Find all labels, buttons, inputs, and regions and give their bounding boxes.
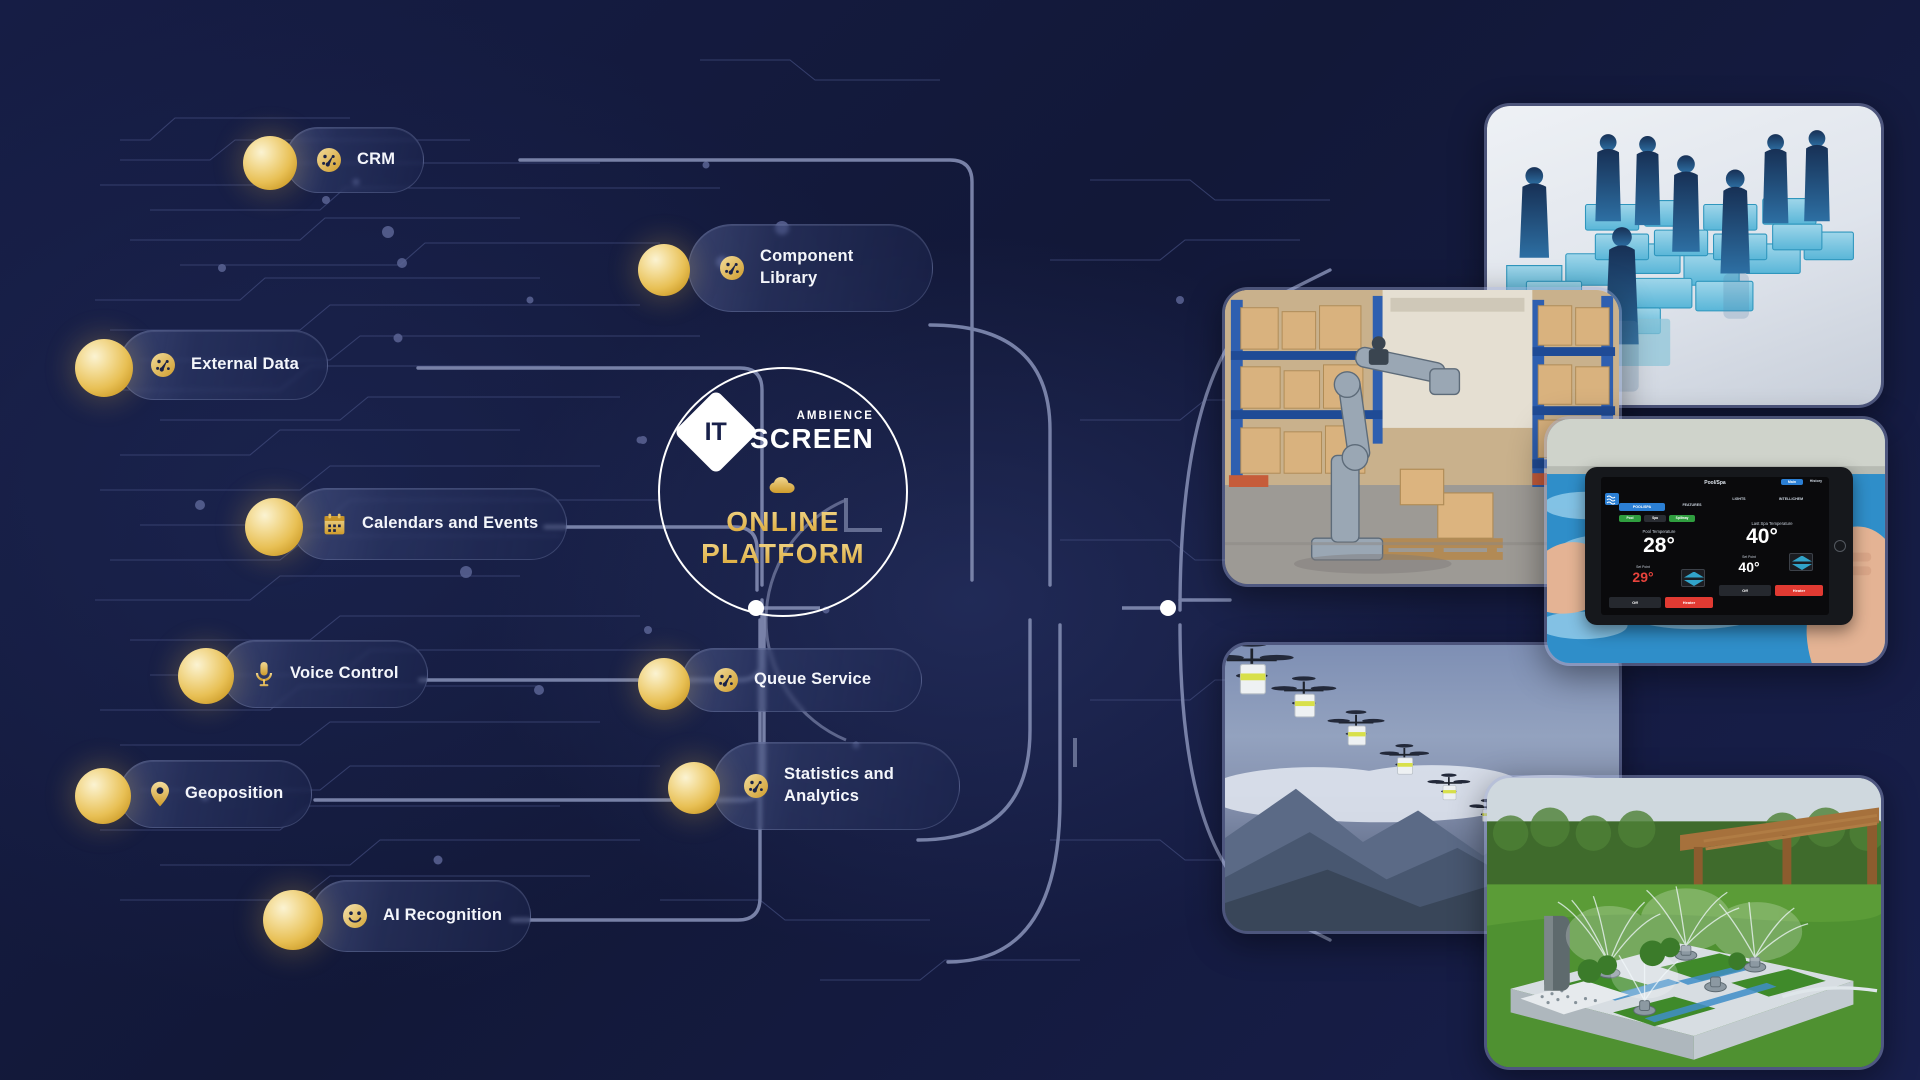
node-orb <box>638 658 690 710</box>
map-pin-icon <box>150 781 170 807</box>
node-calendars-and-events[interactable]: Calendars and Events <box>245 488 567 560</box>
brand-screen-text: SCREEN <box>750 425 874 453</box>
pool-setpoint-value: 29° <box>1613 569 1673 585</box>
node-pill[interactable]: AI Recognition <box>311 880 531 952</box>
node-label: Voice Control <box>290 663 399 685</box>
cloud-icon <box>769 476 797 494</box>
node-geoposition[interactable]: Geoposition <box>75 760 312 828</box>
node-orb <box>75 339 133 397</box>
node-ai-recognition[interactable]: AI Recognition <box>263 880 531 952</box>
pool-temperature-value: 28° <box>1613 534 1705 558</box>
tablet-chip-pool[interactable]: Pool <box>1619 515 1641 522</box>
node-label: Statistics and Analytics <box>784 764 894 808</box>
pool-heater-button[interactable]: Heater <box>1665 597 1713 608</box>
node-orb <box>668 762 720 814</box>
infographic-canvas: IT AMBIENCE SCREEN ONLINE PLATFORM <box>0 0 1920 1080</box>
node-orb <box>245 498 303 556</box>
node-pill[interactable]: Voice Control <box>222 640 428 708</box>
tablet-device[interactable]: Pool/Spa Main History POOL/SPA FEATURES … <box>1585 467 1853 625</box>
tablet-chip-spa[interactable]: Spa <box>1644 515 1666 522</box>
node-label: Queue Service <box>754 669 871 691</box>
node-pill[interactable]: Calendars and Events <box>291 488 567 560</box>
node-orb <box>263 890 323 950</box>
card-pool-spa-tablet[interactable]: Pool/Spa Main History POOL/SPA FEATURES … <box>1544 416 1888 666</box>
tablet-home-button[interactable] <box>1834 540 1846 552</box>
tablet-screen[interactable]: Pool/Spa Main History POOL/SPA FEATURES … <box>1601 477 1829 615</box>
gauge-icon <box>150 352 176 378</box>
node-queue-service[interactable]: Queue Service <box>638 648 922 712</box>
node-component-library[interactable]: Component Library <box>638 224 933 312</box>
node-label: AI Recognition <box>383 905 502 927</box>
it-mark-text: IT <box>705 418 727 447</box>
node-label: Component Library <box>760 246 853 290</box>
node-statistics-and-analytics[interactable]: Statistics and Analytics <box>668 742 960 830</box>
tablet-chip-spillway[interactable]: Spillway <box>1669 515 1695 522</box>
platform-title-line2: PLATFORM <box>701 538 865 570</box>
tablet-menu-main[interactable]: Main <box>1781 479 1803 485</box>
stepper-down-icon[interactable] <box>1792 564 1812 570</box>
node-orb <box>638 244 690 296</box>
stepper-up-icon[interactable] <box>1792 556 1812 562</box>
gauge-icon <box>719 255 745 281</box>
spa-setpoint-stepper[interactable] <box>1789 553 1813 571</box>
platform-title-line1: ONLINE <box>701 506 865 538</box>
calendar-icon <box>322 512 347 537</box>
node-pill[interactable]: Geoposition <box>119 760 312 828</box>
node-pill[interactable]: CRM <box>285 127 424 193</box>
node-orb <box>178 648 234 704</box>
node-external-data[interactable]: External Data <box>75 330 328 400</box>
spa-temperature-value: 40° <box>1719 525 1805 549</box>
spa-setpoint-value: 40° <box>1719 559 1779 575</box>
gauge-icon <box>713 667 739 693</box>
node-label: Geoposition <box>185 783 283 805</box>
card-lawn-irrigation[interactable] <box>1484 775 1884 1070</box>
tablet-tab-intellichem[interactable]: INTELLICHEM <box>1761 497 1821 501</box>
pool-setpoint-stepper[interactable] <box>1681 569 1705 587</box>
center-platform-emblem: IT AMBIENCE SCREEN ONLINE PLATFORM <box>658 367 908 617</box>
smart-irrigation-illustration <box>1487 778 1881 1069</box>
tablet-menu-history[interactable]: History <box>1805 479 1827 483</box>
platform-title: ONLINE PLATFORM <box>701 506 865 570</box>
microphone-icon <box>253 661 275 687</box>
node-pill[interactable]: Statistics and Analytics <box>712 742 960 830</box>
node-label: CRM <box>357 149 395 171</box>
node-crm[interactable]: CRM <box>243 127 424 193</box>
node-voice-control[interactable]: Voice Control <box>178 640 428 708</box>
tablet-tab-lights[interactable]: LIGHTS <box>1721 497 1757 501</box>
node-orb <box>243 136 297 190</box>
stepper-down-icon[interactable] <box>1684 580 1704 586</box>
node-label: Calendars and Events <box>362 513 538 535</box>
node-pill[interactable]: Component Library <box>688 224 933 312</box>
pool-off-button[interactable]: Off <box>1609 597 1661 608</box>
stepper-up-icon[interactable] <box>1684 572 1704 578</box>
smiley-face-icon <box>342 903 368 929</box>
brand-ambience-text: AMBIENCE <box>750 411 874 423</box>
spa-off-button[interactable]: Off <box>1719 585 1771 596</box>
node-orb <box>75 768 131 824</box>
hub-dot-right <box>1160 600 1176 616</box>
spa-heater-button[interactable]: Heater <box>1775 585 1823 596</box>
node-pill[interactable]: Queue Service <box>682 648 922 712</box>
pool-wave-icon <box>1605 493 1619 505</box>
node-pill[interactable]: External Data <box>119 330 328 400</box>
node-label: External Data <box>191 354 299 376</box>
tablet-tab-features[interactable]: FEATURES <box>1669 503 1715 507</box>
gauge-icon <box>743 773 769 799</box>
brand-logo: IT AMBIENCE SCREEN <box>686 402 874 462</box>
gauge-icon <box>316 147 342 173</box>
tablet-tab-pool-spa[interactable]: POOL/SPA <box>1619 503 1665 511</box>
it-diamond-mark: IT <box>674 390 759 475</box>
